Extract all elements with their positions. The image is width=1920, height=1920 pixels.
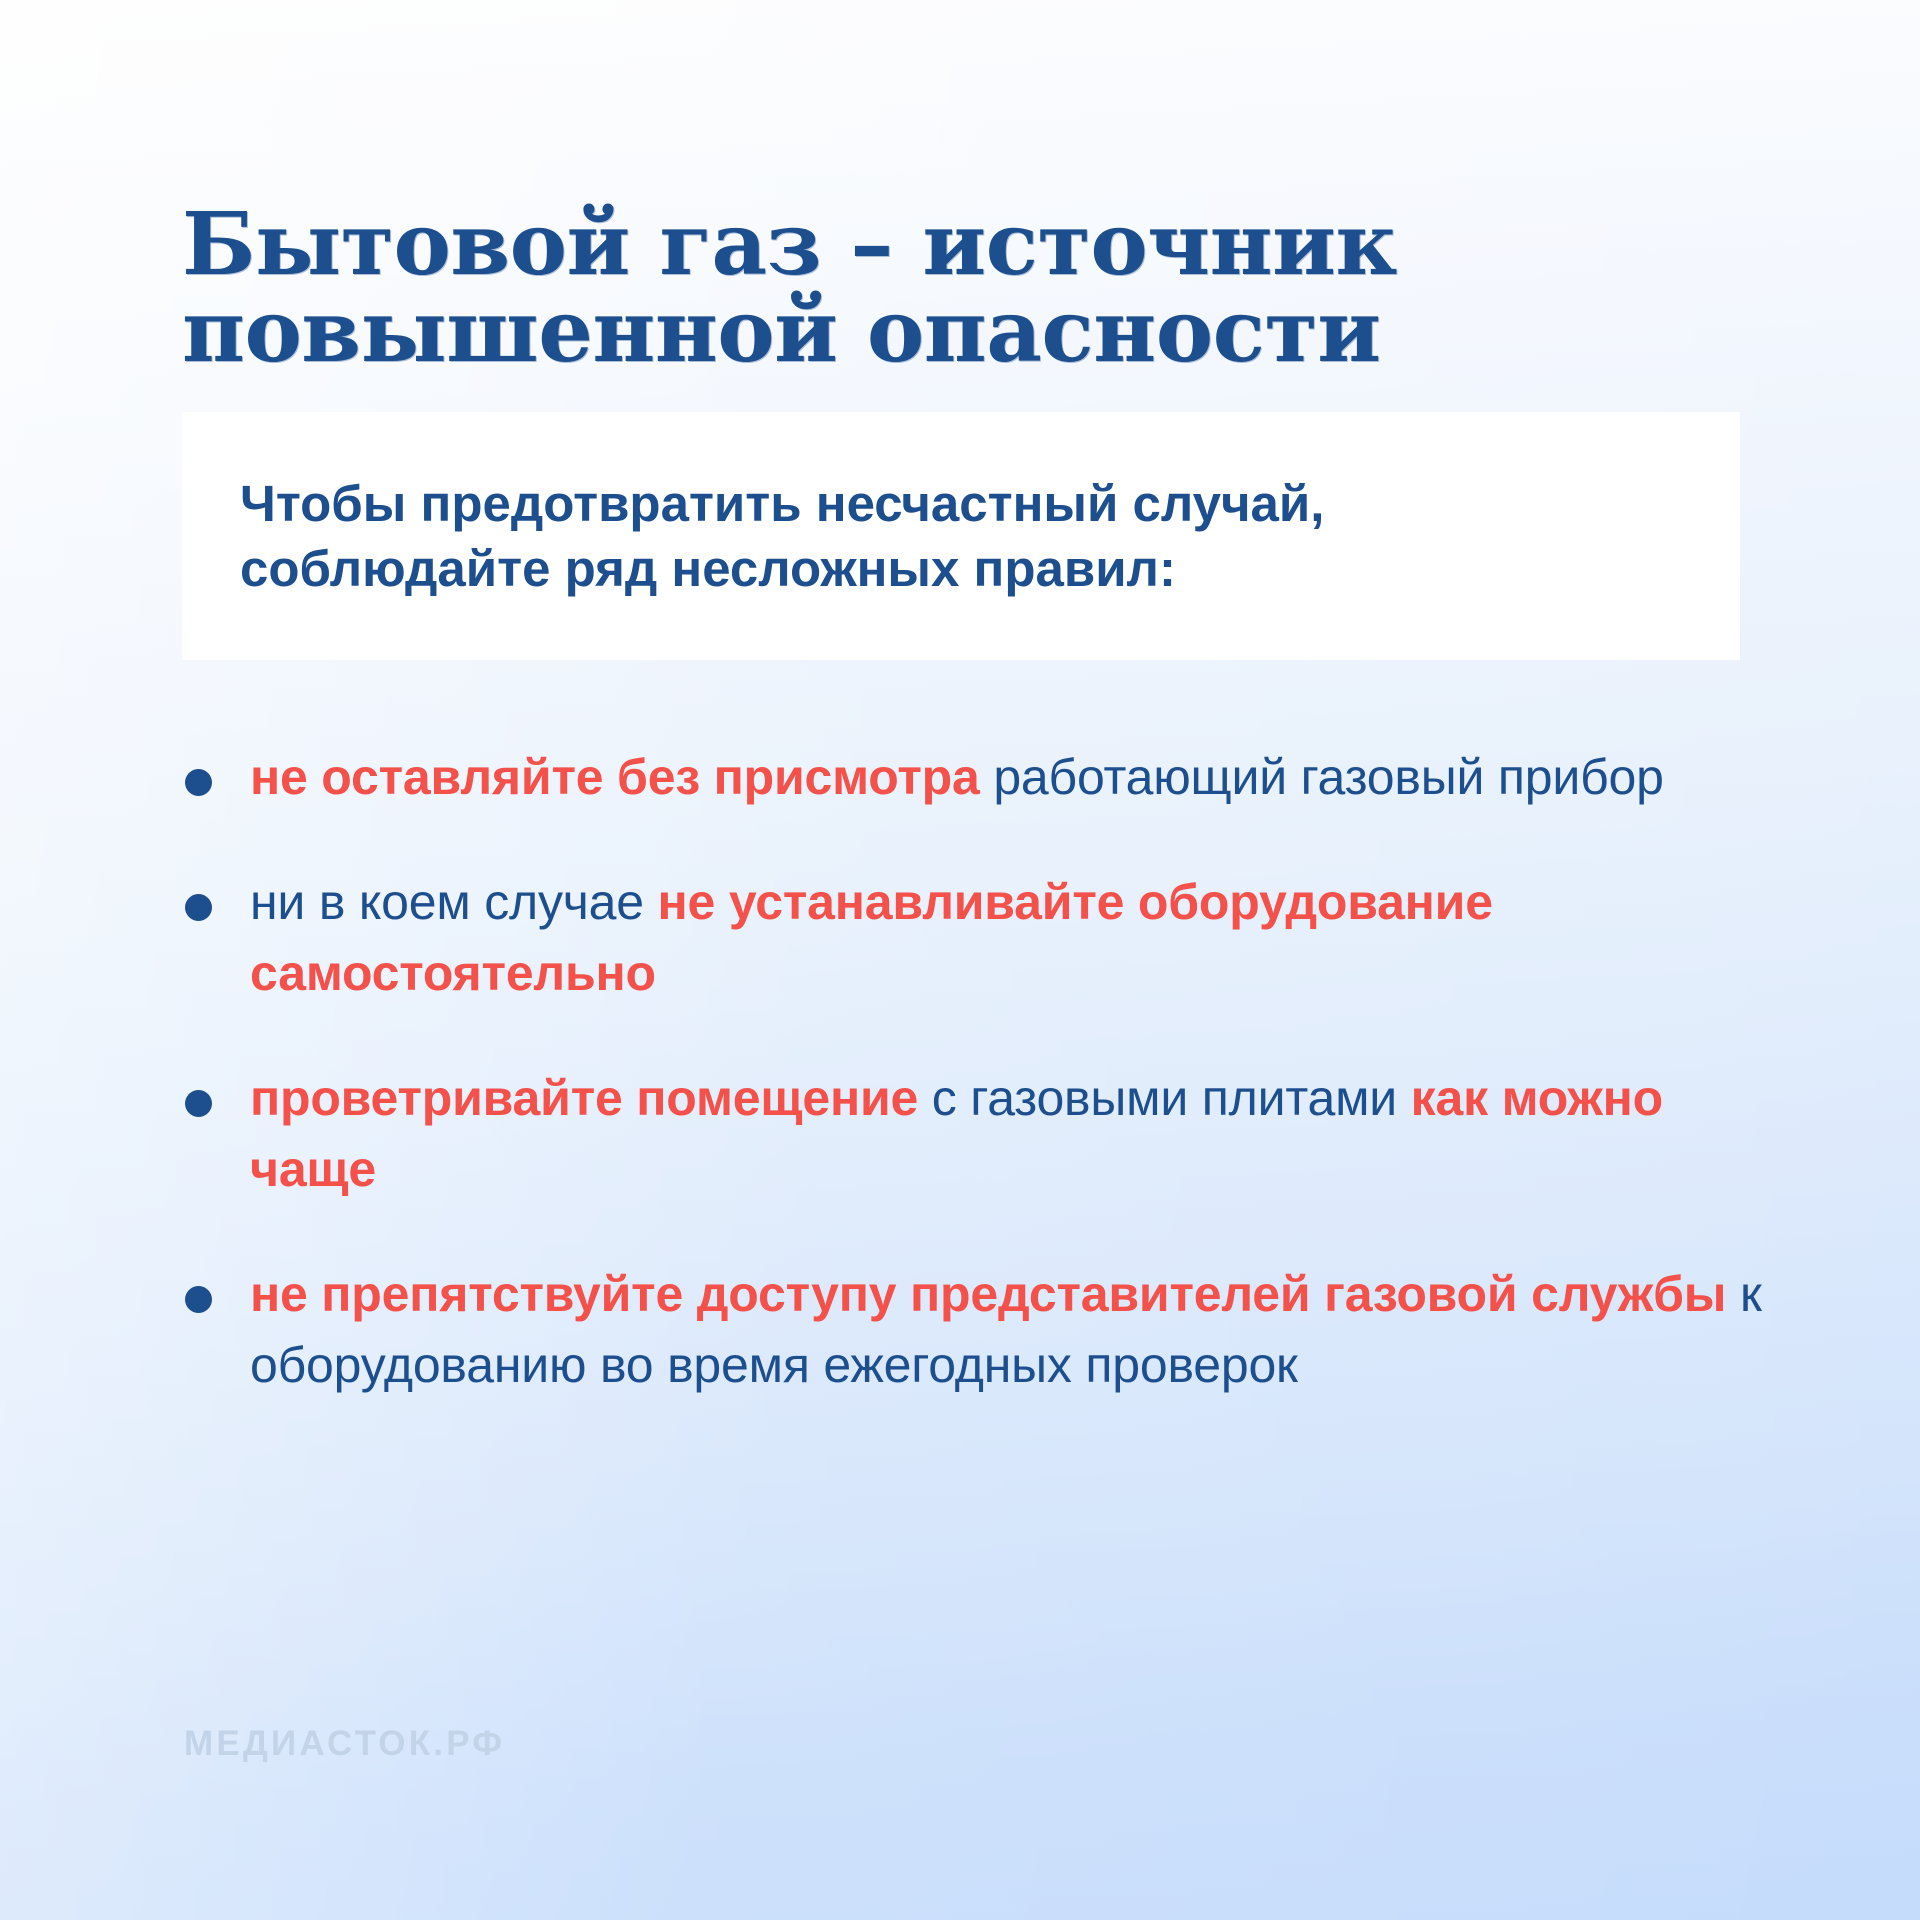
list-item: не оставляйте без присмотра работающий г… bbox=[182, 742, 1782, 813]
page-title-line-1: Бытовой газ – источник bbox=[182, 201, 1742, 289]
rule-text: проветривайте помещение с газовыми плита… bbox=[250, 1063, 1782, 1205]
subtitle-panel: Чтобы предотвратить несчастный случай, с… bbox=[182, 412, 1740, 660]
bullet-dot-icon bbox=[185, 1090, 212, 1117]
rule-emphasis-text: проветривайте помещение bbox=[250, 1070, 918, 1126]
list-item: ни в коем случае не устанавливайте обору… bbox=[182, 867, 1782, 1009]
list-item: не препятствуйте доступу представителей … bbox=[182, 1259, 1782, 1401]
rule-text: не оставляйте без присмотра работающий г… bbox=[250, 742, 1782, 813]
rule-plain-text: работающий газовый прибор bbox=[980, 749, 1664, 805]
rule-plain-text: ни в коем случае bbox=[250, 874, 658, 930]
poster-canvas: Бытовой газ – источник повышенной опасно… bbox=[0, 0, 1920, 1920]
rule-emphasis-text: не оставляйте без присмотра bbox=[250, 749, 980, 805]
subtitle-text: Чтобы предотвратить несчастный случай, с… bbox=[182, 471, 1364, 602]
subtitle-line-1: Чтобы предотвратить несчастный случай, bbox=[240, 471, 1324, 536]
bullet-dot-icon bbox=[185, 894, 212, 921]
rule-text: ни в коем случае не устанавливайте обору… bbox=[250, 867, 1782, 1009]
list-item: проветривайте помещение с газовыми плита… bbox=[182, 1063, 1782, 1205]
rule-emphasis-text: не препятствуйте доступу представителей … bbox=[250, 1266, 1726, 1322]
bullet-dot-icon bbox=[185, 769, 212, 796]
page-title: Бытовой газ – источник повышенной опасно… bbox=[182, 201, 1742, 376]
page-title-line-2: повышенной опасности bbox=[182, 288, 1742, 376]
bullet-dot-icon bbox=[185, 1286, 212, 1313]
rule-text: не препятствуйте доступу представителей … bbox=[250, 1259, 1782, 1401]
subtitle-line-2: соблюдайте ряд несложных правил: bbox=[240, 536, 1324, 601]
rules-list: не оставляйте без присмотра работающий г… bbox=[182, 742, 1782, 1401]
rule-plain-text: с газовыми плитами bbox=[918, 1070, 1411, 1126]
watermark: МЕДИАСТОК.РФ bbox=[184, 1724, 505, 1764]
